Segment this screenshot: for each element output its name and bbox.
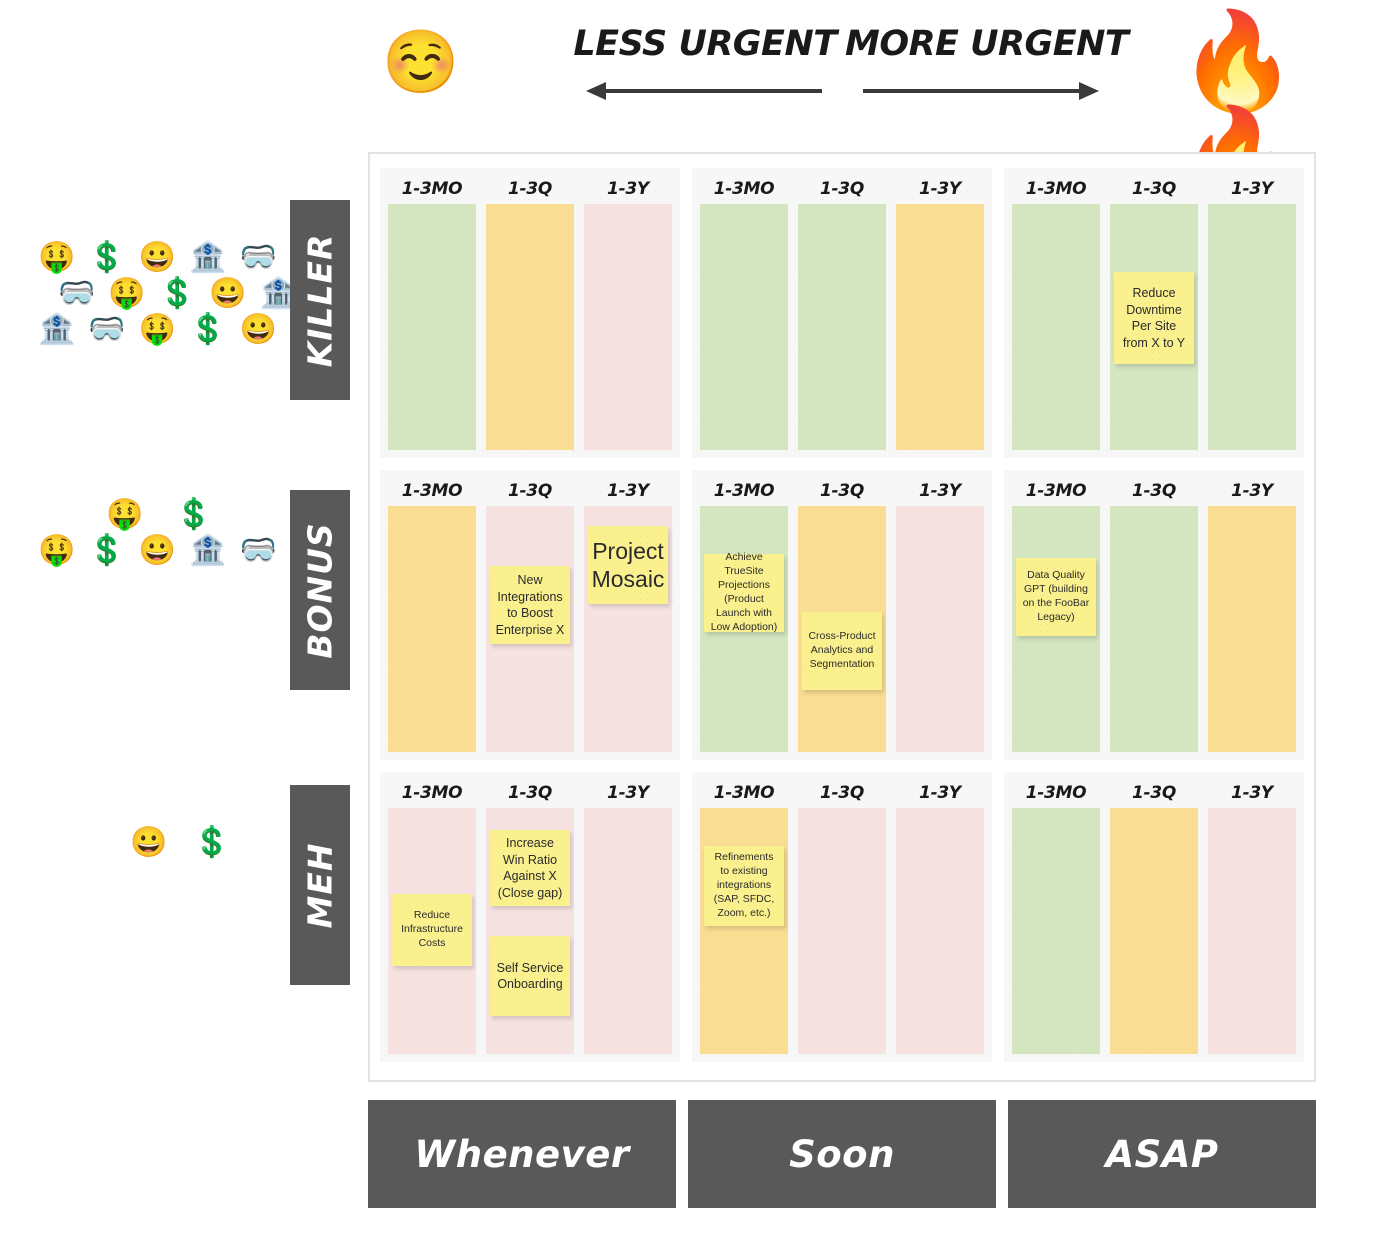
timeline-lane[interactable]: Reduce Infrastructure Costs	[388, 808, 476, 1054]
column-header: 1-3MO	[388, 179, 476, 199]
column-lane-row: Reduce Infrastructure CostsIncrease Win …	[388, 808, 672, 1054]
notes-container: Increase Win Ratio Against X (Close gap)…	[490, 830, 570, 1016]
column-header-row: 1-3MO1-3Q1-3Y	[1012, 174, 1296, 204]
column-lane-row	[700, 204, 984, 450]
notes-container: New Integrations to Boost Enterprise X	[490, 566, 570, 644]
column-header: 1-3Q	[798, 481, 886, 501]
column-header: 1-3Y	[896, 783, 984, 803]
dollar-sign-icon: 💲	[159, 279, 196, 309]
column-header-row: 1-3MO1-3Q1-3Y	[700, 778, 984, 808]
timeline-lane[interactable]: Achieve TrueSite Projections (Product La…	[700, 506, 788, 752]
timeline-lane[interactable]	[486, 204, 574, 450]
group-bonus-asap: 1-3MO1-3Q1-3YData Quality GPT (building …	[1004, 470, 1304, 760]
value-bonus-line: 🤑💲😀🏦🥽	[38, 536, 303, 566]
timeline-lane[interactable]: Refinements to existing integrations (SA…	[700, 808, 788, 1054]
column-header: 1-3Q	[486, 179, 574, 199]
relaxed-face-icon: ☺️	[382, 32, 459, 94]
timeline-lane[interactable]: Project Mosaic	[584, 506, 672, 752]
group-killer-asap: 1-3MO1-3Q1-3YReduce Downtime Per Site fr…	[1004, 168, 1304, 458]
column-header-row: 1-3MO1-3Q1-3Y	[1012, 476, 1296, 506]
column-header-row: 1-3MO1-3Q1-3Y	[1012, 778, 1296, 808]
timeline-lane[interactable]	[798, 204, 886, 450]
grinning-face-icon: 😀	[139, 536, 176, 566]
column-header: 1-3MO	[700, 481, 788, 501]
sticky-note[interactable]: Cross-Product Analytics and Segmentation	[802, 612, 882, 690]
prioritization-board: 1-3MO1-3Q1-3Y1-3MO1-3Q1-3Y1-3MO1-3Q1-3YR…	[368, 152, 1316, 1082]
less-urgent-label: LESS URGENT	[570, 24, 840, 64]
sticky-note[interactable]: New Integrations to Boost Enterprise X	[490, 566, 570, 644]
more-urgent-label: MORE URGENT	[845, 24, 1115, 64]
timeline-lane[interactable]	[1110, 808, 1198, 1054]
column-header: 1-3Q	[798, 179, 886, 199]
value-cluster-meh: 😀💲	[130, 828, 395, 864]
group-bonus-whenever: 1-3MO1-3Q1-3YNew Integrations to Boost E…	[380, 470, 680, 760]
dollar-sign-icon: 💲	[88, 536, 125, 566]
notes-container: Reduce Downtime Per Site from X to Y	[1114, 272, 1194, 364]
column-header: 1-3Y	[896, 481, 984, 501]
column-header: 1-3MO	[700, 179, 788, 199]
sticky-note[interactable]: Data Quality GPT (building on the FooBar…	[1016, 558, 1096, 636]
column-lane-row: Refinements to existing integrations (SA…	[700, 808, 984, 1054]
column-header-row: 1-3MO1-3Q1-3Y	[700, 476, 984, 506]
column-header: 1-3MO	[1012, 783, 1100, 803]
grinning-face-icon: 😀	[209, 279, 246, 309]
goggles-icon: 🥽	[239, 536, 276, 566]
timeline-lane[interactable]	[1110, 506, 1198, 752]
timeline-lane[interactable]: New Integrations to Boost Enterprise X	[486, 506, 574, 752]
column-header: 1-3Y	[896, 179, 984, 199]
bank-icon: 🏦	[38, 315, 75, 345]
timeline-lane[interactable]	[1012, 808, 1100, 1054]
timeline-lane[interactable]	[896, 204, 984, 450]
notes-container: Achieve TrueSite Projections (Product La…	[704, 554, 784, 632]
bank-icon: 🏦	[189, 536, 226, 566]
group-bonus-soon: 1-3MO1-3Q1-3YAchieve TrueSite Projection…	[692, 470, 992, 760]
sticky-note[interactable]: Reduce Downtime Per Site from X to Y	[1114, 272, 1194, 364]
timeline-lane[interactable]	[388, 506, 476, 752]
grinning-face-icon: 😀	[130, 828, 167, 858]
urgency-bar-whenever[interactable]: Whenever	[368, 1100, 676, 1208]
timeline-lane[interactable]	[1012, 204, 1100, 450]
sticky-note[interactable]: Self Service Onboarding	[490, 936, 570, 1016]
group-killer-whenever: 1-3MO1-3Q1-3Y	[380, 168, 680, 458]
notes-container: Cross-Product Analytics and Segmentation	[802, 612, 882, 690]
column-lane-row	[1012, 808, 1296, 1054]
column-header: 1-3Q	[1110, 481, 1198, 501]
column-header: 1-3MO	[700, 783, 788, 803]
column-lane-row: Achieve TrueSite Projections (Product La…	[700, 506, 984, 752]
dollar-sign-icon: 💲	[88, 243, 125, 273]
sticky-note[interactable]: Increase Win Ratio Against X (Close gap)	[490, 830, 570, 906]
right-arrow-icon	[845, 78, 1115, 104]
dollar-sign-icon: 💲	[189, 315, 226, 345]
row-label-meh: MEH	[290, 785, 350, 985]
sticky-note[interactable]: Achieve TrueSite Projections (Product La…	[704, 554, 784, 632]
column-header: 1-3MO	[1012, 179, 1100, 199]
column-lane-row: Reduce Downtime Per Site from X to Y	[1012, 204, 1296, 450]
timeline-lane[interactable]	[700, 204, 788, 450]
timeline-lane[interactable]	[1208, 808, 1296, 1054]
dollar-sign-icon: 💲	[175, 500, 212, 530]
timeline-lane[interactable]: Data Quality GPT (building on the FooBar…	[1012, 506, 1100, 752]
value-cluster-killer: 🤑💲😀🏦🥽🥽🤑💲😀🏦🏦🥽🤑💲😀	[38, 243, 303, 351]
header-urgency-legend: ☺️ LESS URGENT MORE URGENT 🔥🔥	[0, 0, 1380, 140]
column-header: 1-3Y	[584, 179, 672, 199]
urgency-bar-soon[interactable]: Soon	[688, 1100, 996, 1208]
money-mouth-face-icon: 🤑	[106, 500, 143, 530]
more-urgent-legend: MORE URGENT	[845, 24, 1115, 104]
dollar-sign-icon: 💲	[193, 828, 230, 858]
value-killer-line: 🏦🥽🤑💲😀	[38, 315, 303, 345]
column-header-row: 1-3MO1-3Q1-3Y	[700, 174, 984, 204]
value-killer-line: 🤑💲😀🏦🥽	[38, 243, 303, 273]
money-mouth-face-icon: 🤑	[108, 279, 145, 309]
timeline-lane[interactable]	[896, 506, 984, 752]
sticky-note[interactable]: Reduce Infrastructure Costs	[392, 894, 472, 966]
column-header: 1-3MO	[388, 783, 476, 803]
timeline-lane[interactable]	[1208, 204, 1296, 450]
sticky-note[interactable]: Refinements to existing integrations (SA…	[704, 846, 784, 926]
timeline-lane[interactable]	[896, 808, 984, 1054]
row-label-bonus-text: BONUS	[301, 522, 340, 658]
grinning-face-icon: 😀	[239, 315, 276, 345]
column-header-row: 1-3MO1-3Q1-3Y	[388, 174, 672, 204]
column-header: 1-3MO	[1012, 481, 1100, 501]
row-label-bonus: BONUS	[290, 490, 350, 690]
column-header-row: 1-3MO1-3Q1-3Y	[388, 778, 672, 808]
bank-icon: 🏦	[189, 243, 226, 273]
column-header: 1-3Y	[1208, 783, 1296, 803]
column-lane-row	[388, 204, 672, 450]
group-meh-whenever: 1-3MO1-3Q1-3YReduce Infrastructure Costs…	[380, 772, 680, 1062]
column-header: 1-3Y	[1208, 179, 1296, 199]
less-urgent-legend: LESS URGENT	[570, 24, 840, 104]
timeline-lane[interactable]	[584, 204, 672, 450]
goggles-icon: 🥽	[88, 315, 125, 345]
column-header: 1-3Q	[486, 783, 574, 803]
goggles-icon: 🥽	[58, 279, 95, 309]
column-header: 1-3Y	[584, 481, 672, 501]
timeline-lane[interactable]: Cross-Product Analytics and Segmentation	[798, 506, 886, 752]
urgency-bar-row: WheneverSoonASAP	[368, 1100, 1316, 1208]
urgency-bar-asap[interactable]: ASAP	[1008, 1100, 1316, 1208]
row-label-meh-text: MEH	[301, 842, 340, 928]
value-cluster-bonus: 🤑💲🤑💲😀🏦🥽	[38, 500, 303, 572]
column-lane-row: New Integrations to Boost Enterprise XPr…	[388, 506, 672, 752]
value-bonus-line: 🤑💲	[106, 500, 303, 530]
column-header-row: 1-3MO1-3Q1-3Y	[388, 476, 672, 506]
value-killer-line: 🥽🤑💲😀🏦	[58, 279, 303, 309]
column-header: 1-3MO	[388, 481, 476, 501]
column-lane-row: Data Quality GPT (building on the FooBar…	[1012, 506, 1296, 752]
group-meh-soon: 1-3MO1-3Q1-3YRefinements to existing int…	[692, 772, 992, 1062]
column-header: 1-3Q	[1110, 179, 1198, 199]
timeline-lane[interactable]	[388, 204, 476, 450]
timeline-lane[interactable]	[798, 808, 886, 1054]
timeline-lane[interactable]	[1208, 506, 1296, 752]
timeline-lane[interactable]: Reduce Downtime Per Site from X to Y	[1110, 204, 1198, 450]
grinning-face-icon: 😀	[139, 243, 176, 273]
money-mouth-face-icon: 🤑	[139, 315, 176, 345]
row-label-killer: KILLER	[290, 200, 350, 400]
column-header: 1-3Q	[1110, 783, 1198, 803]
money-mouth-face-icon: 🤑	[38, 243, 75, 273]
money-mouth-face-icon: 🤑	[38, 536, 75, 566]
notes-container: Project Mosaic	[588, 526, 668, 604]
notes-container: Data Quality GPT (building on the FooBar…	[1016, 558, 1096, 636]
column-header: 1-3Y	[584, 783, 672, 803]
value-meh-line: 😀💲	[130, 828, 395, 858]
goggles-icon: 🥽	[239, 243, 276, 273]
notes-container: Reduce Infrastructure Costs	[392, 894, 472, 966]
notes-container: Refinements to existing integrations (SA…	[704, 846, 784, 926]
column-header: 1-3Q	[798, 783, 886, 803]
board-row-killer: 1-3MO1-3Q1-3Y1-3MO1-3Q1-3Y1-3MO1-3Q1-3YR…	[380, 168, 1304, 458]
left-arrow-icon	[570, 78, 840, 104]
column-header: 1-3Y	[1208, 481, 1296, 501]
group-meh-asap: 1-3MO1-3Q1-3Y	[1004, 772, 1304, 1062]
column-header: 1-3Q	[486, 481, 574, 501]
sticky-note[interactable]: Project Mosaic	[588, 526, 668, 604]
row-label-killer-text: KILLER	[301, 233, 340, 367]
timeline-lane[interactable]	[584, 808, 672, 1054]
timeline-lane[interactable]: Increase Win Ratio Against X (Close gap)…	[486, 808, 574, 1054]
group-killer-soon: 1-3MO1-3Q1-3Y	[692, 168, 992, 458]
board-row-meh: 1-3MO1-3Q1-3YReduce Infrastructure Costs…	[380, 772, 1304, 1062]
board-row-bonus: 1-3MO1-3Q1-3YNew Integrations to Boost E…	[380, 470, 1304, 760]
